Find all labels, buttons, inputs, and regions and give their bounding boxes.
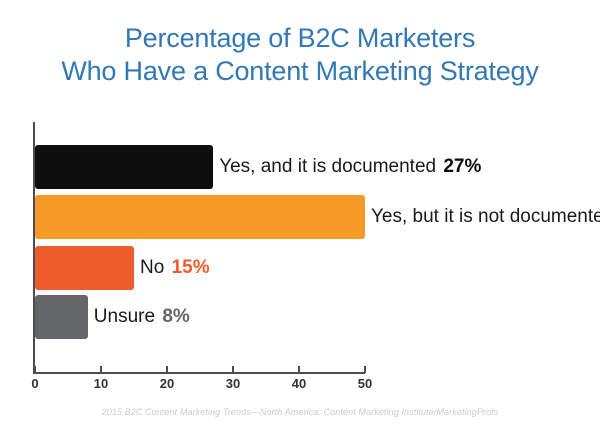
bar-row: Yes, but it is not documented 50% xyxy=(35,195,595,239)
x-axis-line xyxy=(33,372,365,374)
x-tick-0 xyxy=(34,366,36,373)
chart-title-line-1: Percentage of B2C Marketers xyxy=(0,22,600,55)
bar-unsure[interactable] xyxy=(35,295,88,339)
x-tick-label-0: 0 xyxy=(31,376,38,391)
x-tick-label-30: 30 xyxy=(226,376,240,391)
x-tick-20 xyxy=(166,366,168,373)
bar-no[interactable] xyxy=(35,246,134,290)
bar-value-text: 15% xyxy=(172,257,210,278)
bar-category-text: Yes, but it is not documented xyxy=(371,206,600,227)
x-tick-label-50: 50 xyxy=(358,376,372,391)
bar-value-text: 8% xyxy=(162,306,189,327)
bar-category-text: Yes, and it is documented xyxy=(219,156,441,177)
bar-row: Unsure 8% xyxy=(35,295,595,339)
source-note: 2015 B2C Content Marketing Trends—North … xyxy=(0,407,600,417)
x-tick-10 xyxy=(100,366,102,373)
bar-category-text: No xyxy=(140,257,170,278)
bar-category-text: Unsure xyxy=(94,306,161,327)
bar-label: Unsure 8% xyxy=(94,295,190,339)
chart-container: Percentage of B2C Marketers Who Have a C… xyxy=(0,0,600,443)
x-tick-40 xyxy=(298,366,300,373)
bar-row: Yes, and it is documented 27% xyxy=(35,145,595,189)
x-tick-label-20: 20 xyxy=(160,376,174,391)
bar-yes-but-it-is-not-documented[interactable] xyxy=(35,195,365,239)
bar-label: Yes, but it is not documented 50% xyxy=(371,195,600,239)
bar-yes-and-it-is-documented[interactable] xyxy=(35,145,213,189)
x-tick-label-40: 40 xyxy=(292,376,306,391)
bar-value-text: 27% xyxy=(443,156,481,177)
bar-label: No 15% xyxy=(140,246,210,290)
x-tick-label-10: 10 xyxy=(94,376,108,391)
chart-title: Percentage of B2C Marketers Who Have a C… xyxy=(0,22,600,88)
x-tick-30 xyxy=(232,366,234,373)
chart-title-line-2: Who Have a Content Marketing Strategy xyxy=(0,55,600,88)
bar-label: Yes, and it is documented 27% xyxy=(219,145,481,189)
x-tick-50 xyxy=(364,366,366,373)
bar-row: No 15% xyxy=(35,246,595,290)
plot-area: 01020304050 Yes, and it is documented 27… xyxy=(35,122,365,372)
